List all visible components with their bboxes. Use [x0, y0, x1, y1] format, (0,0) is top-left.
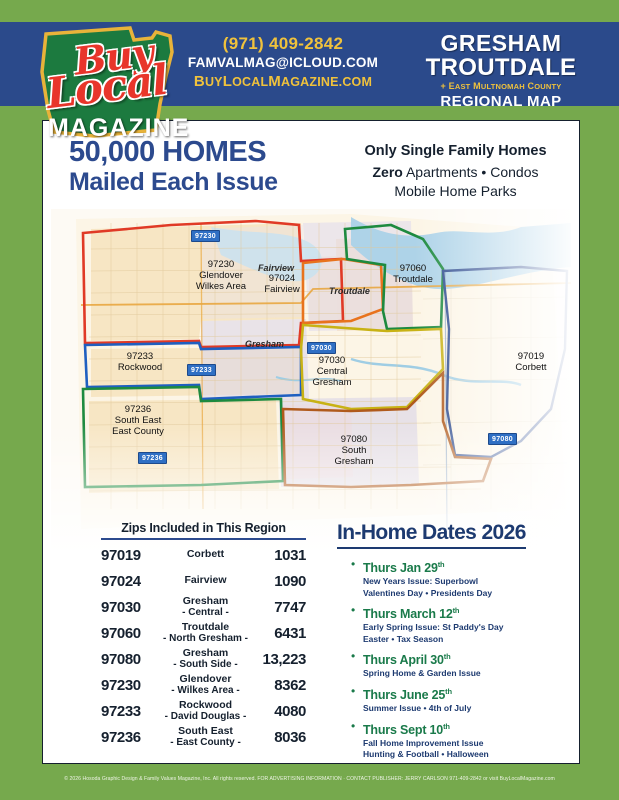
- map-city-gresham: Gresham: [245, 339, 284, 349]
- issue-desc-line1: Early Spring Issue: St Paddy's Day: [363, 622, 569, 633]
- phone-number[interactable]: (971) 409-2842: [178, 34, 388, 54]
- subhead-zero-apartments: Zero Apartments • Condos: [343, 163, 568, 182]
- map-badge-97030[interactable]: 97030: [307, 342, 336, 354]
- zip-home-count: 6431: [248, 625, 306, 642]
- zip-code: 97236: [101, 729, 163, 746]
- zip-home-count: 1090: [248, 573, 306, 590]
- map-city-troutdale: Troutdale: [329, 286, 370, 296]
- table-row: 97030 Gresham- Central - 7747: [101, 594, 306, 620]
- zips-table-rule: [101, 538, 306, 540]
- zip-home-count: 1031: [248, 547, 306, 564]
- in-home-dates-heading: In-Home Dates 2026: [337, 521, 526, 549]
- table-row: 97024 Fairview 1090: [101, 568, 306, 594]
- issue-desc-line1: Summer Issue • 4th of July: [363, 703, 569, 714]
- subhead-block: Only Single Family Homes Zero Apartments…: [343, 139, 568, 201]
- zip-code: 97080: [101, 651, 163, 668]
- map-label-97060: 97060 Troutdale: [378, 263, 448, 285]
- map-badge-97230[interactable]: 97230: [191, 230, 220, 242]
- in-home-dates-block: In-Home Dates 2026 Thurs Jan 29th New Ye…: [337, 521, 569, 764]
- issue-desc-line1: New Years Issue: Superbowl: [363, 576, 569, 587]
- zip-home-count: 7747: [248, 599, 306, 616]
- issue-date: Thurs June 25th: [363, 685, 569, 702]
- issue-date: Thurs Sept 10th: [363, 720, 569, 737]
- map-badge-97080[interactable]: 97080: [488, 433, 517, 445]
- list-item: Thurs Sept 10th Fall Home Improvement Is…: [363, 720, 569, 760]
- website-link[interactable]: BUYLOCALMAGAZINE.COM: [178, 72, 388, 92]
- zip-home-count: 8036: [248, 729, 306, 746]
- map-label-97019: 97019 Corbett: [498, 351, 564, 373]
- zip-area-name: Glendover- Wilkes Area -: [163, 674, 248, 697]
- list-item: Thurs April 30th Spring Home & Garden Is…: [363, 650, 569, 679]
- zip-area-name: Troutdale- North Gresham -: [163, 622, 248, 645]
- headline-block: 50,000 HOMES Mailed Each Issue: [69, 137, 329, 196]
- region-title-block: GRESHAM TROUTDALE + EAST MULTNOMAH COUNT…: [398, 32, 604, 111]
- table-row: 97230 Glendover- Wilkes Area - 8362: [101, 672, 306, 698]
- zip-code: 97024: [101, 573, 163, 590]
- map-city-fairview: Fairview: [258, 263, 294, 273]
- zip-code: 97230: [101, 677, 163, 694]
- map-badge-97236[interactable]: 97236: [138, 452, 167, 464]
- zip-code: 97233: [101, 703, 163, 720]
- region-title-gresham: GRESHAM: [398, 32, 604, 55]
- zip-area-name: Corbett: [163, 549, 248, 561]
- content-card: 50,000 HOMES Mailed Each Issue Only Sing…: [42, 120, 580, 764]
- map-label-97024: 97024 Fairview: [247, 273, 317, 295]
- email-address[interactable]: FAMVALMAG@ICLOUD.COM: [178, 54, 388, 72]
- in-home-dates-list: Thurs Jan 29th New Years Issue: Superbow…: [337, 558, 569, 764]
- table-row: 97236 South East- East County - 8036: [101, 724, 306, 750]
- region-title-troutdale: TROUTDALE: [398, 55, 604, 80]
- zip-home-count: 4080: [248, 703, 306, 720]
- map-badge-97233[interactable]: 97233: [187, 364, 216, 376]
- issue-date: Thurs March 12th: [363, 604, 569, 621]
- map-label-97080: 97080 South Gresham: [315, 434, 393, 467]
- map-label-97236: 97236 South East East County: [93, 404, 183, 437]
- list-item: Thurs Jan 29th New Years Issue: Superbow…: [363, 558, 569, 598]
- map-label-97030: 97030 Central Gresham: [293, 355, 371, 388]
- list-item: Thurs June 25th Summer Issue • 4th of Ju…: [363, 685, 569, 714]
- buy-local-magazine-logo: Buy Local MAGAZINE: [34, 18, 184, 140]
- headline-mailed: Mailed Each Issue: [69, 168, 329, 196]
- zip-code: 97060: [101, 625, 163, 642]
- publisher-contact-block: (971) 409-2842 FAMVALMAG@ICLOUD.COM BUYL…: [178, 34, 388, 92]
- subhead-single-family: Only Single Family Homes: [343, 139, 568, 163]
- zip-area-name: Gresham- South Side -: [163, 648, 248, 671]
- issue-desc-line1: Fall Home Improvement Issue: [363, 738, 569, 749]
- table-row: 97060 Troutdale- North Gresham - 6431: [101, 620, 306, 646]
- zips-included-table: Zips Included in This Region 97019 Corbe…: [101, 521, 306, 750]
- issue-desc-line2: Hunting & Football • Halloween: [363, 749, 569, 760]
- subhead-mobile-home-parks: Mobile Home Parks: [343, 182, 568, 201]
- zip-area-name: Rockwood- David Douglas -: [163, 700, 248, 723]
- region-subtitle-county: + EAST MULTNOMAH COUNTY: [398, 80, 604, 93]
- zip-home-count: 13,223: [248, 651, 306, 668]
- issue-desc-line2: Easter • Tax Season: [363, 634, 569, 645]
- issue-date: Thurs April 30th: [363, 650, 569, 667]
- issue-date: Thurs Jan 29th: [363, 558, 569, 575]
- zip-code: 97019: [101, 547, 163, 564]
- zip-area-name: Gresham- Central -: [163, 596, 248, 619]
- zip-code: 97030: [101, 599, 163, 616]
- list-item: Thurs March 12th Early Spring Issue: St …: [363, 604, 569, 644]
- table-row: 97233 Rockwood- David Douglas - 4080: [101, 698, 306, 724]
- issue-desc-line2: Valentines Day • Presidents Day: [363, 588, 569, 599]
- zips-table-heading: Zips Included in This Region: [101, 521, 306, 538]
- zip-home-count: 8362: [248, 677, 306, 694]
- region-title-regional-map: REGIONAL MAP: [398, 93, 604, 111]
- logo-word-magazine: MAGAZINE: [48, 114, 176, 143]
- zip-area-name: South East- East County -: [163, 726, 248, 749]
- issue-desc-line1: Spring Home & Garden Issue: [363, 668, 569, 679]
- map-label-97233: 97233 Rockwood: [101, 351, 179, 373]
- zip-area-name: Fairview: [163, 575, 248, 587]
- table-row: 97019 Corbett 1031: [101, 542, 306, 568]
- copyright-footer: © 2026 Hosoda Graphic Design & Family Va…: [0, 776, 619, 782]
- table-row: 97080 Gresham- South Side - 13,223: [101, 646, 306, 672]
